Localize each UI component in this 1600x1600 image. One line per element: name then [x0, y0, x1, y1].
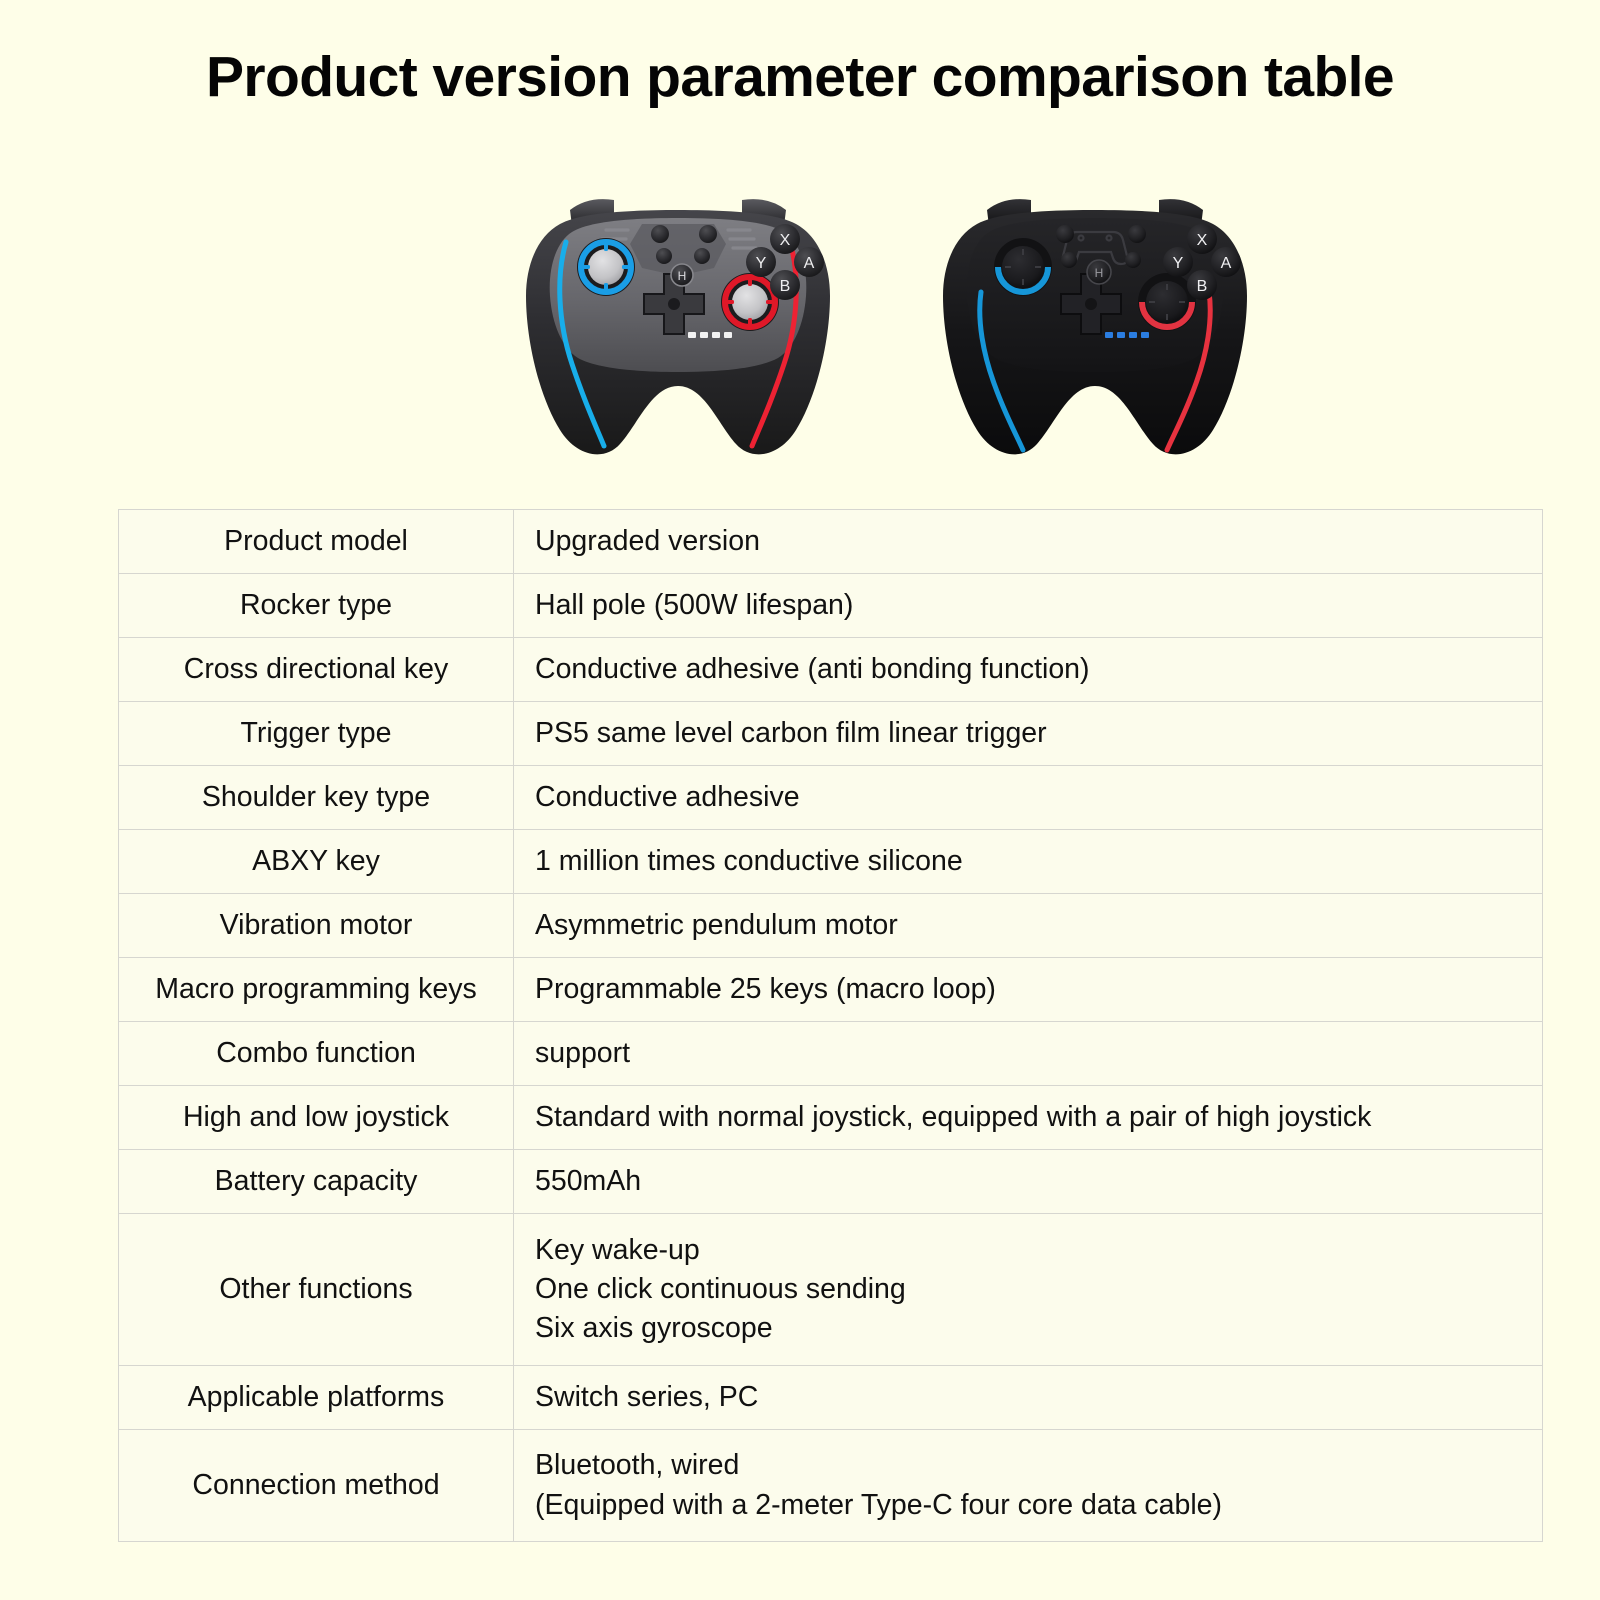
spec-value-line: Bluetooth, wired [535, 1447, 1528, 1484]
spec-key-cell: Cross directional key [119, 638, 514, 702]
table-row: Cross directional keyConductive adhesive… [119, 638, 1543, 702]
spec-value-cell: Standard with normal joystick, equipped … [514, 1086, 1543, 1150]
spec-value-cell: PS5 same level carbon film linear trigge… [514, 702, 1543, 766]
spec-value-cell: Asymmetric pendulum motor [514, 894, 1543, 958]
svg-text:X: X [780, 232, 791, 249]
spec-value-cell: Programmable 25 keys (macro loop) [514, 958, 1543, 1022]
spec-key-cell: Trigger type [119, 702, 514, 766]
spec-value-line: Switch series, PC [535, 1379, 1528, 1416]
spec-value-line: Conductive adhesive [535, 779, 1528, 816]
product-image-row: H X Y A B [0, 160, 1600, 480]
table-row: Connection methodBluetooth, wired(Equipp… [119, 1430, 1543, 1542]
svg-text:B: B [1197, 278, 1208, 295]
table-row: Applicable platformsSwitch series, PC [119, 1366, 1543, 1430]
table-row: ABXY key1 million times conductive silic… [119, 830, 1543, 894]
spec-value-cell: Hall pole (500W lifespan) [514, 574, 1543, 638]
spec-key-cell: High and low joystick [119, 1086, 514, 1150]
table-row: Rocker typeHall pole (500W lifespan) [119, 574, 1543, 638]
spec-value-cell: Bluetooth, wired(Equipped with a 2-meter… [514, 1430, 1543, 1542]
table-row: Combo functionsupport [119, 1022, 1543, 1086]
spec-value-line: Asymmetric pendulum motor [535, 907, 1528, 944]
spec-table-body: Product modelUpgraded versionRocker type… [119, 510, 1543, 1542]
svg-text:A: A [804, 255, 815, 272]
table-row: Macro programming keysProgrammable 25 ke… [119, 958, 1543, 1022]
table-row: Other functionsKey wake-upOne click cont… [119, 1214, 1543, 1366]
svg-text:A: A [1221, 255, 1232, 272]
spec-key-cell: ABXY key [119, 830, 514, 894]
spec-value-line: One click continuous sending [535, 1271, 1528, 1308]
spec-value-line: Standard with normal joystick, equipped … [535, 1099, 1528, 1136]
svg-text:Y: Y [1173, 255, 1184, 272]
spec-value-line: Six axis gyroscope [535, 1310, 1528, 1347]
table-row: Shoulder key typeConductive adhesive [119, 766, 1543, 830]
spec-key-cell: Vibration motor [119, 894, 514, 958]
spec-value-cell: Switch series, PC [514, 1366, 1543, 1430]
spec-value-cell: Upgraded version [514, 510, 1543, 574]
table-row: High and low joystickStandard with norma… [119, 1086, 1543, 1150]
spec-key-cell: Shoulder key type [119, 766, 514, 830]
spec-key-cell: Applicable platforms [119, 1366, 514, 1430]
table-row: Trigger typePS5 same level carbon film l… [119, 702, 1543, 766]
spec-value-line: PS5 same level carbon film linear trigge… [535, 715, 1528, 752]
spec-value-cell: Conductive adhesive [514, 766, 1543, 830]
home-button-label: H [678, 269, 687, 283]
home-button-label: H [1095, 266, 1104, 280]
table-row: Product modelUpgraded version [119, 510, 1543, 574]
spec-value-cell: Key wake-upOne click continuous sendingS… [514, 1214, 1543, 1366]
spec-value-cell: support [514, 1022, 1543, 1086]
svg-text:X: X [1197, 232, 1208, 249]
table-row: Battery capacity550mAh [119, 1150, 1543, 1214]
gamepad-black-illustration: H X Y A B [895, 172, 1295, 472]
product-image-upgraded-gray-controller: H X Y A B [478, 172, 878, 477]
spec-key-cell: Combo function [119, 1022, 514, 1086]
svg-text:Y: Y [756, 255, 767, 272]
spec-value-line: Upgraded version [535, 523, 1528, 560]
spec-value-line: Hall pole (500W lifespan) [535, 587, 1528, 624]
spec-key-cell: Connection method [119, 1430, 514, 1542]
spec-value-cell: 550mAh [514, 1150, 1543, 1214]
table-row: Vibration motorAsymmetric pendulum motor [119, 894, 1543, 958]
spec-value-line: 1 million times conductive silicone [535, 843, 1528, 880]
spec-key-cell: Rocker type [119, 574, 514, 638]
spec-value-line: (Equipped with a 2-meter Type-C four cor… [535, 1487, 1528, 1524]
spec-key-cell: Battery capacity [119, 1150, 514, 1214]
spec-value-cell: Conductive adhesive (anti bonding functi… [514, 638, 1543, 702]
spec-key-cell: Product model [119, 510, 514, 574]
spec-value-cell: 1 million times conductive silicone [514, 830, 1543, 894]
product-image-standard-black-controller: H X Y A B [895, 172, 1295, 477]
svg-text:B: B [780, 278, 791, 295]
spec-value-line: Programmable 25 keys (macro loop) [535, 971, 1528, 1008]
spec-key-cell: Other functions [119, 1214, 514, 1366]
spec-value-line: Conductive adhesive (anti bonding functi… [535, 651, 1528, 688]
spec-value-line: 550mAh [535, 1163, 1528, 1200]
gamepad-gray-illustration: H X Y A B [478, 172, 878, 472]
spec-key-cell: Macro programming keys [119, 958, 514, 1022]
spec-value-line: support [535, 1035, 1528, 1072]
spec-value-line: Key wake-up [535, 1232, 1528, 1269]
page-title: Product version parameter comparison tab… [0, 44, 1600, 110]
spec-comparison-table: Product modelUpgraded versionRocker type… [118, 509, 1543, 1542]
